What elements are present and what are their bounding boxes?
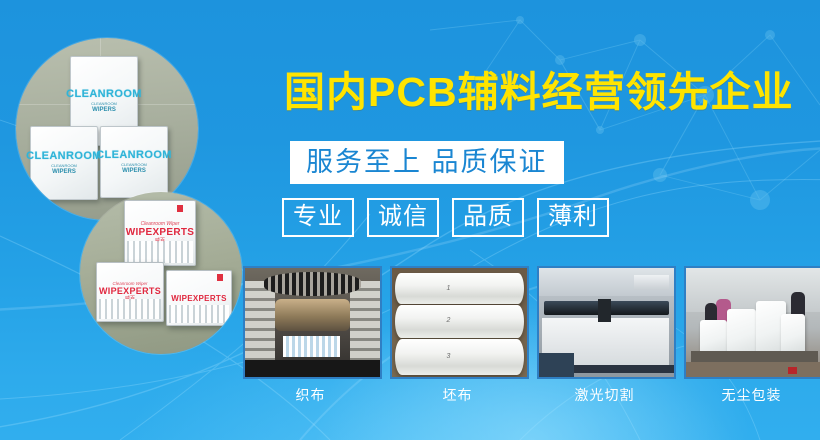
knitting-machine-photo: [245, 268, 380, 377]
thumbnail-image-weaving[interactable]: [243, 266, 382, 379]
subtitle-text: 服务至上 品质保证: [306, 148, 548, 176]
page-title: 国内PCB辅料经营领先企业: [284, 72, 794, 113]
thumbnail-caption: 激光切割: [537, 388, 672, 402]
laser-cutting-photo: [539, 268, 674, 377]
cleanroom-packing-photo: [686, 268, 820, 377]
roll-label: 2: [447, 317, 451, 324]
wipe-ridges: [99, 299, 161, 319]
knitted-fabric: [283, 336, 340, 358]
work-table: [691, 351, 818, 362]
process-thumbnail-strip: 织布 1 2 3 坯布: [243, 266, 819, 402]
thumbnail-item-greige-fabric[interactable]: 1 2 3 坯布: [390, 266, 525, 402]
keyword-badge-2: 诚信: [367, 198, 439, 237]
cleanroom-package: CLEANROOM CLEANROOM WIPERS: [30, 126, 98, 200]
wipexperts-package: WIPEXPERTS: [166, 270, 232, 326]
keyword-badge-1: 专业: [282, 198, 354, 237]
red-stool: [788, 367, 797, 374]
thumbnail-caption: 坯布: [390, 388, 525, 402]
room-floor: [686, 362, 820, 377]
wipexperts-packs-photo: Cleanroom Wiper WIPEXPERTS 威百 Cleanroom …: [80, 192, 242, 354]
fabric-rolls-photo: 1 2 3: [392, 268, 527, 377]
yarn-spools-right: [350, 281, 380, 368]
fabric-roll: 3: [395, 339, 525, 375]
fabric-roll: 1: [395, 273, 525, 304]
keyword-badge-3: 品质: [452, 198, 524, 237]
wipexperts-package: Cleanroom Wiper WIPEXPERTS 威百: [96, 262, 164, 322]
red-mark: [177, 205, 183, 212]
packed-bale: [781, 314, 805, 355]
needle-ring: [264, 272, 361, 296]
laser-head: [598, 299, 610, 323]
thumbnail-item-weaving[interactable]: 织布: [243, 266, 378, 402]
thumbnail-caption: 无尘包装: [684, 388, 819, 402]
thumbnail-image-greige-fabric[interactable]: 1 2 3: [390, 266, 529, 379]
roll-label: 3: [447, 353, 451, 360]
promo-banner: CLEANROOM CLEANROOM WIPERS CLEANROOM CLE…: [0, 0, 820, 440]
cleanroom-package: CLEANROOM CLEANROOM WIPERS: [100, 126, 168, 198]
thumbnail-item-laser-cutting[interactable]: 激光切割: [537, 266, 672, 402]
photo-backdrop: Cleanroom Wiper WIPEXPERTS 威百 Cleanroom …: [80, 192, 242, 354]
yarn-spools-left: [245, 281, 275, 368]
thumbnail-item-cleanroom-packing[interactable]: 无尘包装: [684, 266, 819, 402]
red-mark: [217, 274, 223, 281]
keyword-badge-4: 薄利: [537, 198, 609, 237]
wipexperts-package: Cleanroom Wiper WIPEXPERTS 威百: [124, 200, 196, 266]
machine-drum: [275, 299, 351, 332]
roll-label: 1: [447, 285, 451, 292]
thumbnail-caption: 织布: [243, 388, 378, 402]
keyword-list: 专业 诚信 品质 薄利: [282, 198, 609, 237]
fabric-roll: 2: [395, 305, 525, 338]
wipe-ridges: [127, 241, 193, 263]
machine-base: [245, 360, 380, 377]
material-stack: [634, 275, 669, 290]
control-cabinet: [539, 353, 574, 377]
thumbnail-image-laser-cutting[interactable]: [537, 266, 676, 379]
subtitle-box: 服务至上 品质保证: [290, 141, 564, 184]
wipe-ridges: [169, 305, 229, 323]
thumbnail-image-cleanroom-packing[interactable]: [684, 266, 820, 379]
